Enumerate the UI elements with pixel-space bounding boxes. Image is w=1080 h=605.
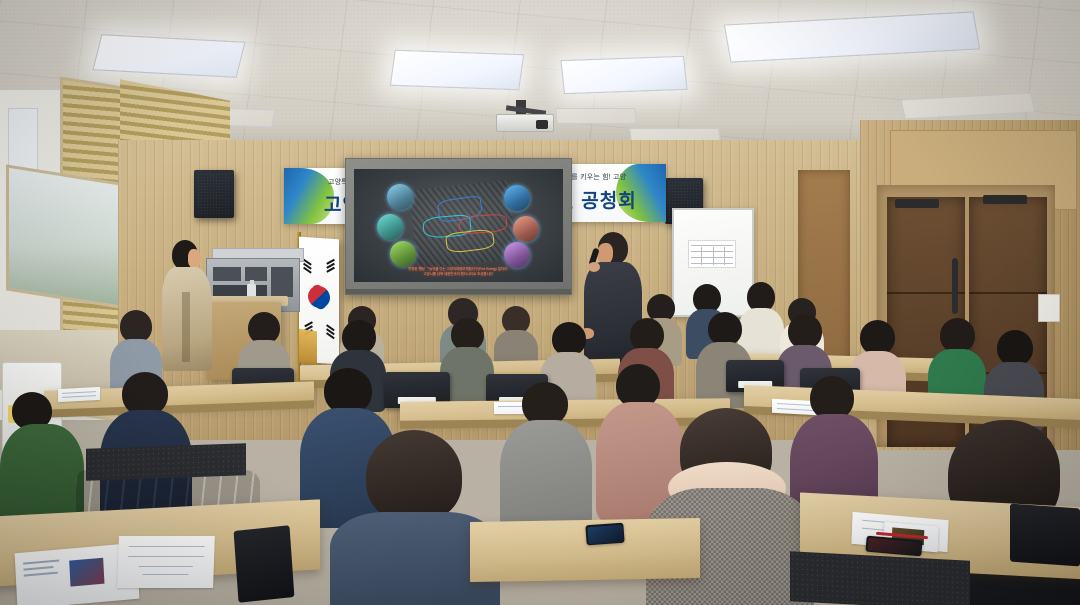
slide-caption: 투명한 행정 『능곡을 잇는 고양국제정보체험지구(Port Energy 일자… bbox=[367, 267, 551, 277]
folder-front-left bbox=[234, 525, 295, 603]
ceiling-light-3 bbox=[560, 56, 687, 94]
head bbox=[997, 330, 1033, 366]
door-handle[interactable] bbox=[952, 258, 958, 314]
wall-notice bbox=[8, 108, 38, 174]
table-panel-mid bbox=[86, 443, 246, 481]
taeguk-symbol-icon bbox=[308, 285, 330, 309]
smartphone-center[interactable] bbox=[585, 523, 624, 546]
screen-bottom-bar bbox=[346, 289, 571, 294]
presenter-hand bbox=[588, 262, 600, 272]
head bbox=[940, 318, 975, 353]
presenter-podium bbox=[160, 240, 212, 370]
handout-front-center bbox=[117, 536, 215, 588]
head bbox=[552, 322, 586, 356]
head bbox=[788, 314, 822, 349]
presenter-podium-face bbox=[188, 249, 201, 268]
presenter-speaker-face bbox=[597, 243, 613, 264]
callout-4 bbox=[504, 185, 530, 211]
light-switch-plate[interactable] bbox=[1038, 294, 1060, 322]
ceiling-light-1 bbox=[92, 34, 245, 78]
callout-2 bbox=[377, 214, 403, 240]
head bbox=[860, 320, 895, 355]
ceiling-light-6 bbox=[555, 108, 636, 124]
projection-screen: 투명한 행정 『능곡을 잇는 고양국제정보체험지구(Port Energy 일자… bbox=[345, 158, 572, 295]
meeting-room-photo: 고양특례시 고양시 미래를 키우는 힘! 고양 주민 공청회 투명한 행정 『능… bbox=[0, 0, 1080, 605]
projector-lens-icon bbox=[536, 120, 548, 129]
callout-6 bbox=[504, 242, 530, 268]
callout-3 bbox=[390, 241, 416, 267]
slide-caption-line2: 고양시를 남북 대한민국의 원더시티로 조성합니다' bbox=[367, 272, 551, 277]
audience-member bbox=[500, 382, 592, 528]
head bbox=[630, 318, 664, 352]
flag-fringe bbox=[299, 329, 317, 366]
callout-1 bbox=[387, 184, 413, 210]
callout-5 bbox=[513, 216, 539, 242]
door-closer-right-icon bbox=[983, 195, 1027, 204]
audience-member bbox=[0, 392, 84, 522]
head bbox=[342, 320, 376, 354]
slide-content: 투명한 행정 『능곡을 잇는 고양국제정보체험지구(Port Energy 일자… bbox=[354, 169, 563, 282]
door-closer-left-icon bbox=[895, 199, 939, 208]
head bbox=[708, 312, 742, 346]
table-panel-front bbox=[790, 551, 970, 605]
speaker-left bbox=[194, 170, 234, 218]
head bbox=[366, 430, 462, 522]
ceiling-light-2 bbox=[390, 50, 524, 91]
whiteboard-sheet bbox=[688, 240, 736, 268]
booklet-photo bbox=[69, 558, 104, 587]
folder-right bbox=[1010, 504, 1080, 567]
